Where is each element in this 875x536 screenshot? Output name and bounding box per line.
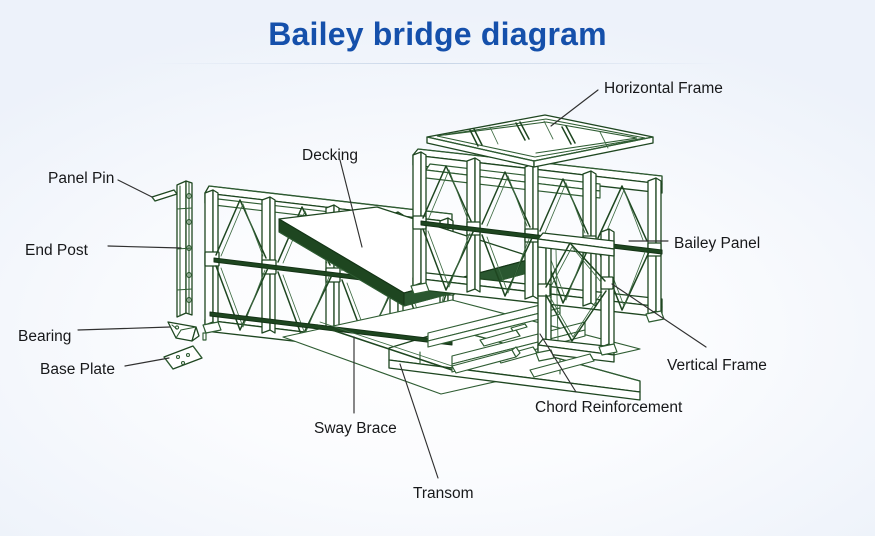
label-vertical-frame: Vertical Frame (667, 357, 767, 375)
part-panel-pin (152, 190, 177, 201)
part-bearing (168, 322, 199, 341)
label-sway-brace: Sway Brace (314, 420, 397, 438)
label-decking: Decking (302, 147, 358, 165)
label-panel-pin: Panel Pin (48, 170, 114, 188)
label-bailey-panel: Bailey Panel (674, 235, 760, 253)
label-bearing: Bearing (18, 328, 71, 346)
part-end-post (177, 181, 192, 317)
bailey-bridge-illustration: .o { fill:#ffffff; stroke:#2f5d33; strok… (0, 0, 875, 536)
diagram-page: Bailey bridge diagram .o { fill:#ffffff;… (0, 0, 875, 536)
label-end-post: End Post (25, 242, 88, 260)
label-base-plate: Base Plate (40, 361, 115, 379)
label-chord-reinforcement: Chord Reinforcement (535, 399, 682, 417)
part-base-plate (164, 346, 202, 369)
label-transom: Transom (413, 485, 474, 503)
label-horizontal-frame: Horizontal Frame (604, 80, 723, 98)
